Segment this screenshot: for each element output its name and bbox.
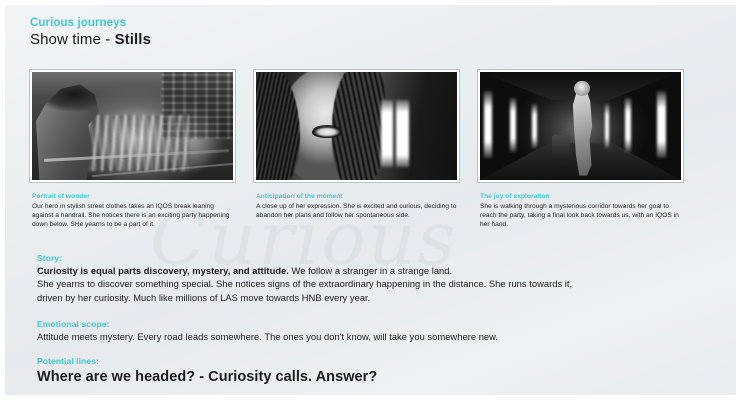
- page-title-strong: Stills: [115, 31, 151, 48]
- sketch-crowd-below: [88, 115, 189, 171]
- sketch-wall-light-5: [625, 98, 631, 152]
- caption-body: A close up of her expression. She is exc…: [256, 202, 461, 220]
- storyboard-frame-strip: [30, 70, 683, 182]
- caption-title: Portrait of wonder: [32, 192, 237, 201]
- sketch-wall-light-2: [510, 98, 516, 152]
- sketch-eye: [312, 126, 342, 138]
- sketch-light-bars: [381, 100, 409, 167]
- storyboard-frame-1[interactable]: [30, 70, 235, 182]
- potential-lines-label: Potential lines:: [37, 355, 717, 367]
- slide-header: Curious journeys Show time - Stills: [30, 16, 151, 50]
- sketch-wall-light-4: [605, 104, 610, 147]
- story-label: Story:: [37, 252, 717, 264]
- story-line-3: driven by her curiosity. Much like milli…: [37, 291, 717, 304]
- page-title-prefix: Show time -: [30, 31, 115, 48]
- caption-body: She is walking through a mysterious corr…: [480, 202, 685, 230]
- caption-body: Our hero in stylish street clothes takes…: [32, 202, 237, 230]
- potential-lines-headline: Where are we headed? - Curiosity calls. …: [37, 367, 717, 387]
- storyboard-frame-3[interactable]: [478, 70, 683, 182]
- header-eyebrow: Curious journeys: [30, 16, 151, 30]
- story-line-1-rest: We follow a stranger in a strange land.: [289, 265, 452, 276]
- potential-lines-section: Potential lines: Where are we headed? - …: [37, 355, 717, 387]
- frame-caption-2: Anticipation of the moment A close up of…: [256, 192, 461, 230]
- frame-caption-1: Portrait of wonder Our hero in stylish s…: [32, 192, 237, 230]
- sketch-wall-light-6: [657, 91, 666, 158]
- story-line-2: She yearns to discover something special…: [37, 277, 717, 290]
- page-title: Show time - Stills: [30, 30, 151, 50]
- sketch-hair-right: [332, 70, 384, 182]
- sketch-balcony-scene: [32, 72, 233, 180]
- storyboard-frame-2[interactable]: [254, 70, 459, 182]
- emotional-scope-section: Emotional scope: Attitude meets mystery.…: [37, 318, 717, 343]
- emotional-scope-label: Emotional scope:: [37, 318, 717, 330]
- story-section: Story: Curiosity is equal parts discover…: [37, 252, 717, 304]
- frame-caption-3: The joy of exploration She is walking th…: [480, 192, 685, 230]
- sketch-figure-bag: [552, 135, 570, 161]
- caption-title: Anticipation of the moment: [256, 192, 461, 201]
- sketch-wall-light-3: [532, 104, 537, 147]
- emotional-scope-body: Attitude meets mystery. Every road leads…: [37, 330, 717, 343]
- story-line-1-strong: Curiosity is equal parts discovery, myst…: [37, 265, 289, 276]
- slide-canvas: Curious Curious journeys Show time - Sti…: [0, 0, 741, 400]
- sketch-wall-light-1: [484, 91, 492, 158]
- sketch-corridor-scene: [480, 72, 681, 180]
- frame-caption-row: Portrait of wonder Our hero in stylish s…: [32, 192, 685, 230]
- sketch-figure-head: [574, 81, 589, 96]
- sketch-closeup-face: [256, 72, 457, 180]
- story-line-1: Curiosity is equal parts discovery, myst…: [37, 264, 717, 277]
- caption-title: The joy of exploration: [480, 192, 685, 201]
